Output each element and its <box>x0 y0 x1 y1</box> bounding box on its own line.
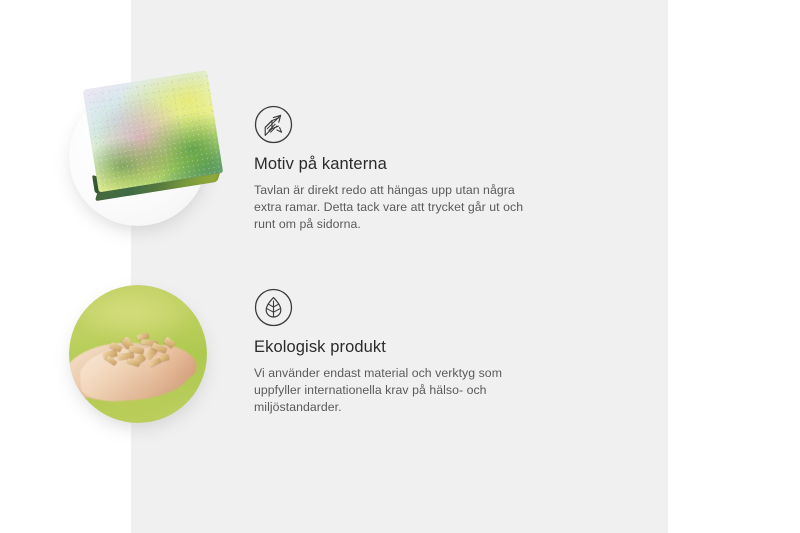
canvas-front-face <box>83 70 224 192</box>
canvas-wrapped-edge-icon <box>254 105 293 144</box>
leaf-icon <box>254 288 293 327</box>
feature-title: Ekologisk produkt <box>254 338 544 358</box>
canvas-texture <box>83 70 224 192</box>
medallion-disc <box>69 285 207 423</box>
wood-chips <box>99 331 182 375</box>
feature-title: Motiv på kanterna <box>254 155 544 175</box>
product-feature-banner: Motiv på kanterna Tavlan är direkt redo … <box>0 0 800 533</box>
eco-hands-wood-chips-photo <box>69 285 207 423</box>
feature-description: Vi använder endast material och verktyg … <box>254 365 544 416</box>
feature-text-block: Ekologisk produkt Vi använder endast mat… <box>254 288 544 416</box>
feature-row-ekologisk-produkt: Ekologisk produkt Vi använder endast mat… <box>0 272 537 440</box>
canvas-print-object <box>83 70 228 207</box>
feature-row-motiv-pa-kanterna: Motiv på kanterna Tavlan är direkt redo … <box>0 75 537 250</box>
canvas-print-photo <box>69 88 207 226</box>
feature-text-block: Motiv på kanterna Tavlan är direkt redo … <box>254 105 544 233</box>
feature-description: Tavlan är direkt redo att hängas upp uta… <box>254 182 544 233</box>
